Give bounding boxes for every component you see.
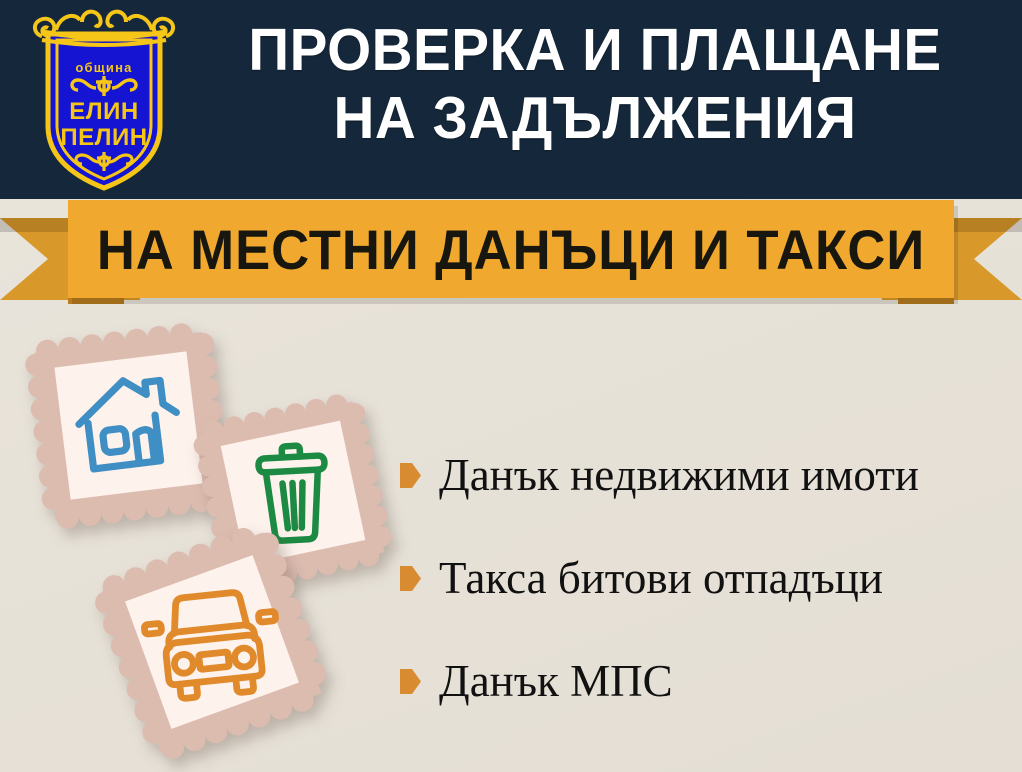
list-item[interactable]: Такса битови отпадъци <box>400 527 1010 630</box>
list-item-label: Такса битови отпадъци <box>439 555 883 602</box>
logo-line-one: ЕЛИН <box>69 98 138 125</box>
logo-small-label: община <box>75 60 132 75</box>
ribbon-panel: НА МЕСТНИ ДАНЪЦИ И ТАКСИ <box>68 200 954 298</box>
list-item-label: Данък недвижими имоти <box>439 452 919 499</box>
logo-line-two: ПЕЛИН <box>60 124 147 151</box>
tax-type-list: Данък недвижими имоти Такса битови отпад… <box>400 424 1010 733</box>
coat-of-arms-icon: община ЕЛИН ПЕЛИН <box>30 8 178 192</box>
bullet-arrow-icon <box>400 669 421 694</box>
list-item[interactable]: Данък недвижими имоти <box>400 424 1010 527</box>
stamp-car <box>92 522 332 762</box>
list-item-label: Данък МПС <box>439 658 673 705</box>
bullet-arrow-icon <box>400 566 421 591</box>
poster-canvas: ПРОВЕРКА И ПЛАЩАНЕ НА ЗАДЪЛЖЕНИЯ община <box>0 0 1022 772</box>
page-title: ПРОВЕРКА И ПЛАЩАНЕ НА ЗАДЪЛЖЕНИЯ <box>197 16 994 152</box>
ribbon-banner: НА МЕСТНИ ДАНЪЦИ И ТАКСИ <box>0 196 1022 312</box>
list-item[interactable]: Данък МПС <box>400 630 1010 733</box>
bullet-arrow-icon <box>400 463 421 488</box>
municipality-logo: община ЕЛИН ПЕЛИН <box>30 8 178 192</box>
ribbon-label: НА МЕСТНИ ДАНЪЦИ И ТАКСИ <box>95 200 928 298</box>
